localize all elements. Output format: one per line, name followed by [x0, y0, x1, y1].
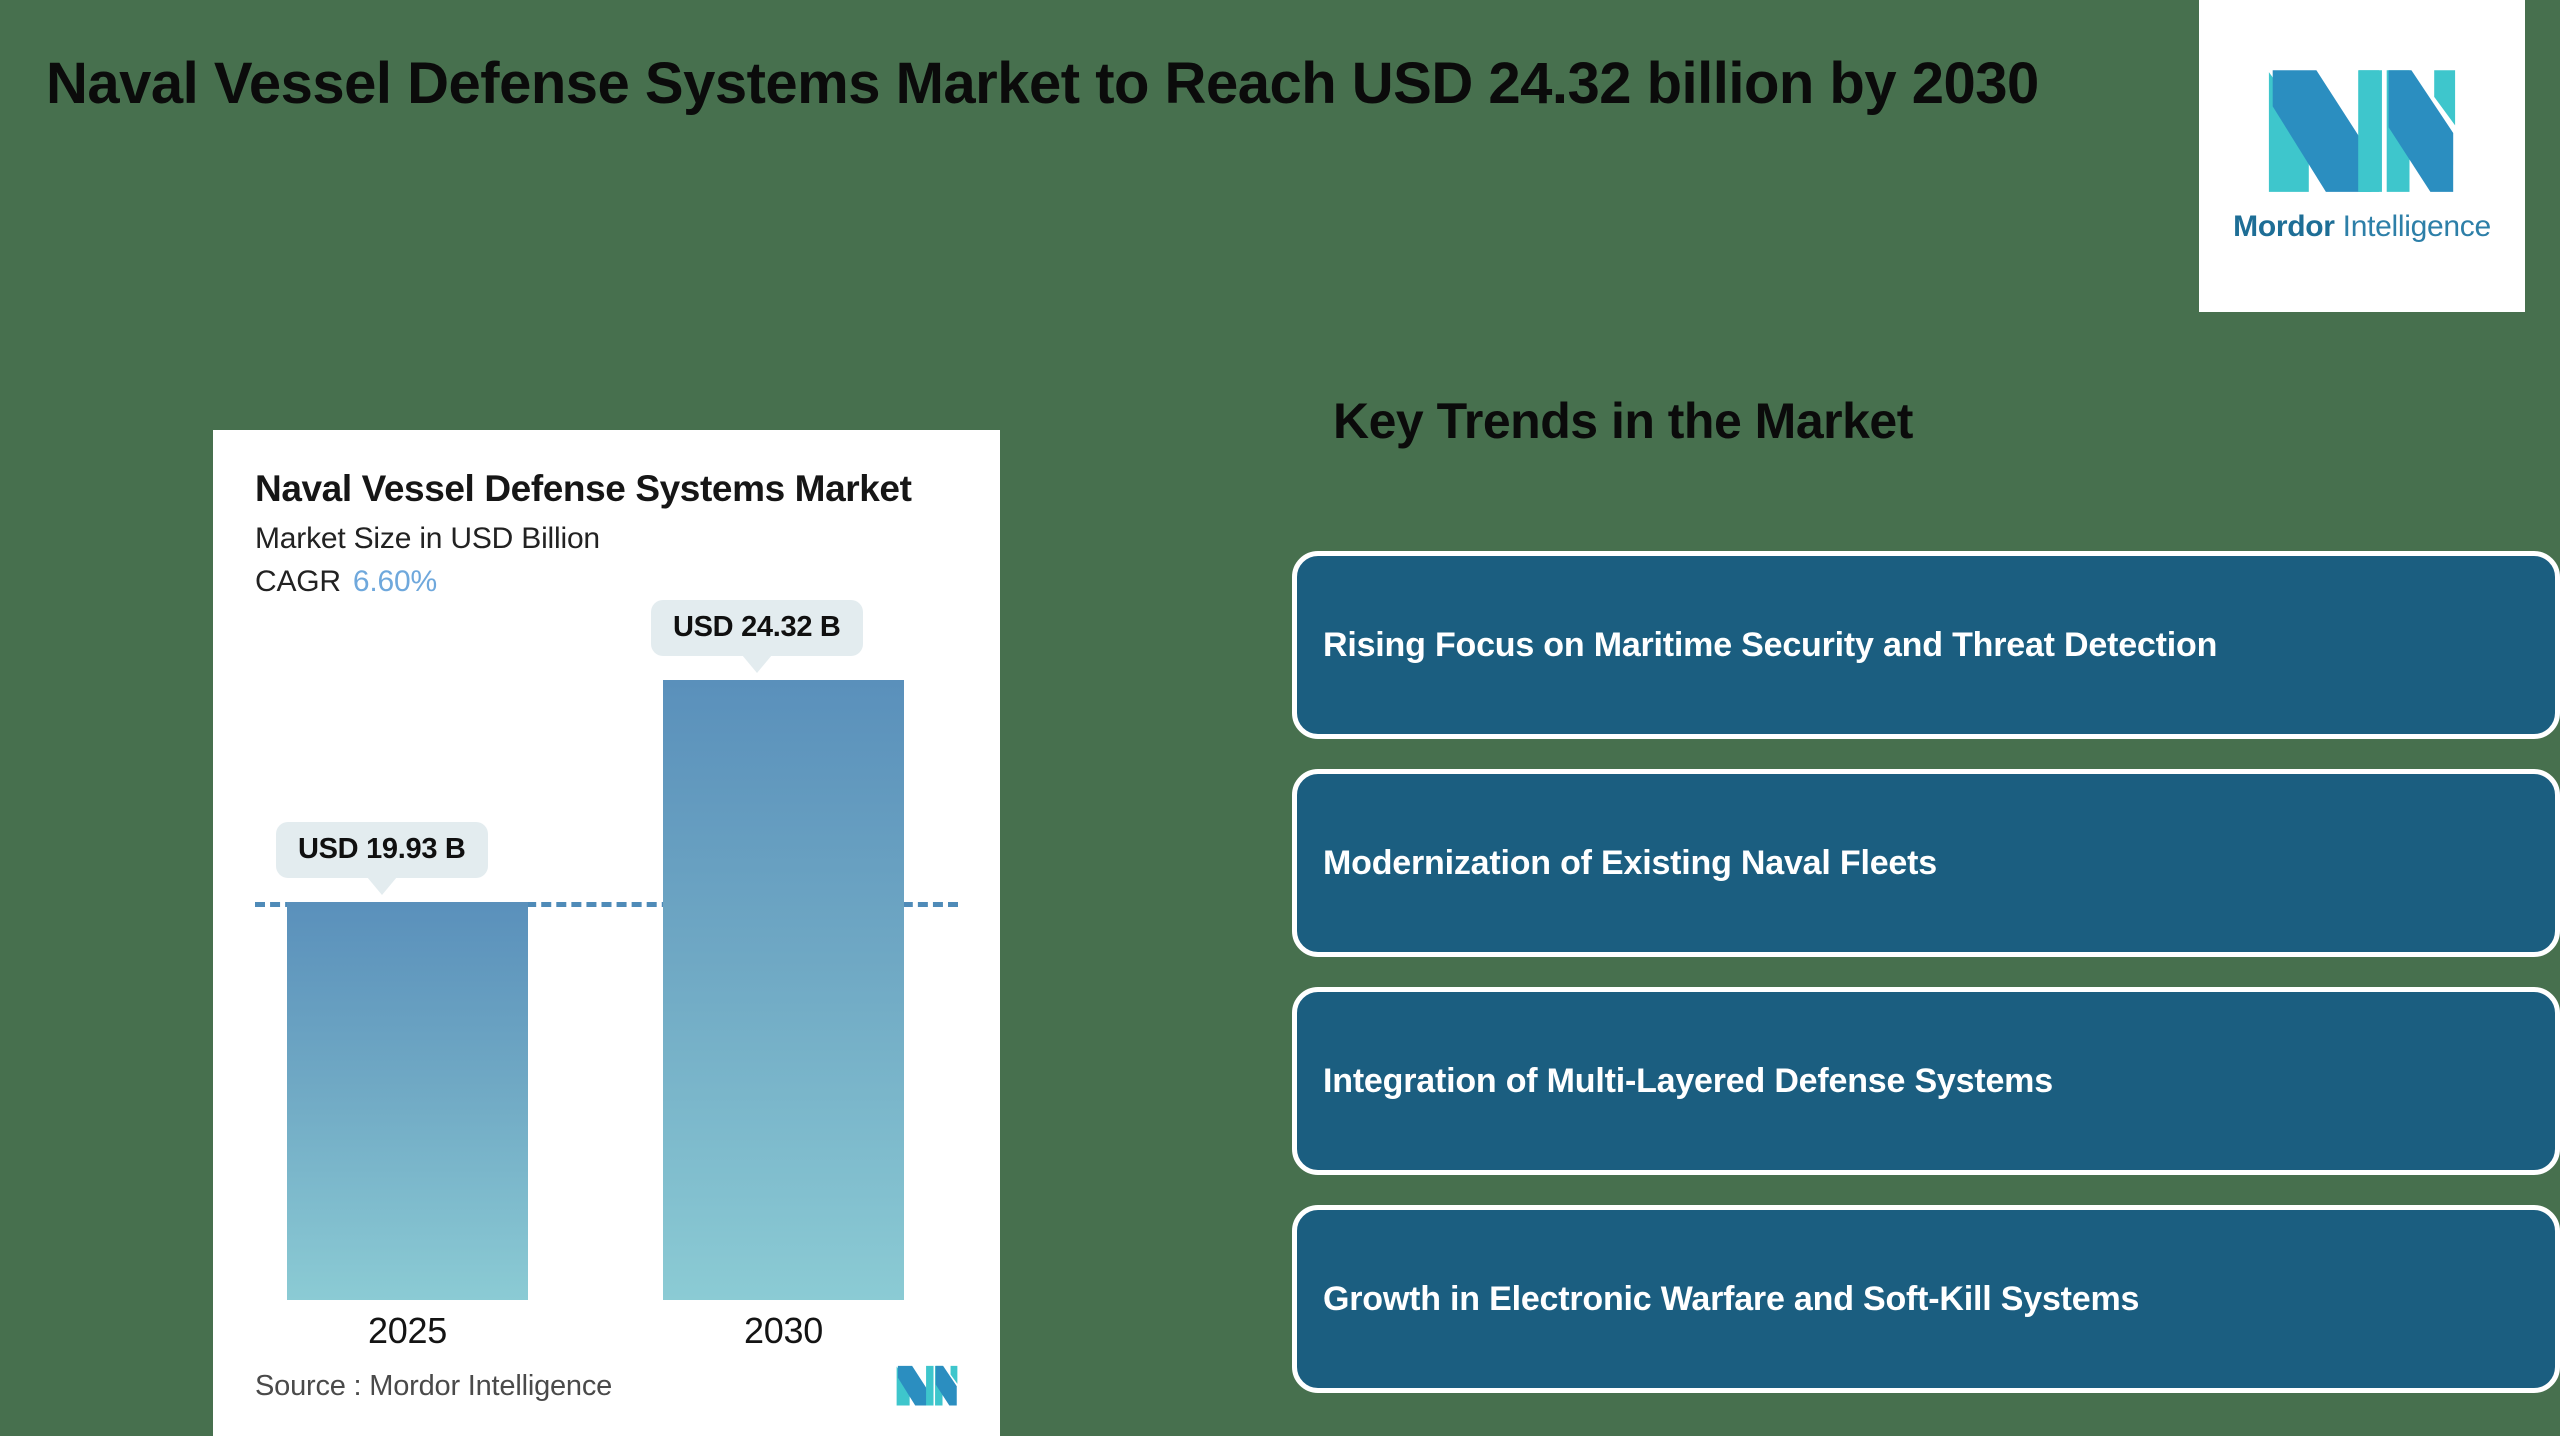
trend-card-2[interactable]: Modernization of Existing Naval Fleets — [1292, 769, 2560, 957]
chart-cagr: CAGR6.60% — [255, 565, 958, 599]
bar-value-badge-2025: USD 19.93 B — [276, 822, 488, 878]
page-title: Naval Vessel Defense Systems Market to R… — [46, 50, 2136, 118]
chart-footer: Source : Mordor Intelligence — [255, 1362, 958, 1410]
trend-label: Integration of Multi-Layered Defense Sys… — [1323, 1062, 2053, 1101]
trends-list: Rising Focus on Maritime Security and Th… — [1292, 551, 2560, 1423]
bar-chart-plot-area: USD 19.93 B USD 24.32 B — [255, 680, 958, 1300]
x-axis-label-2030: 2030 — [663, 1310, 904, 1352]
source-label: Source : Mordor Intelligence — [255, 1370, 612, 1403]
mordor-m-mark-small-icon — [896, 1362, 958, 1410]
chart-card: Naval Vessel Defense Systems Market Mark… — [213, 430, 1000, 1436]
x-axis-label-2025: 2025 — [287, 1310, 528, 1352]
chart-subtitle: Market Size in USD Billion — [255, 522, 958, 556]
trends-heading: Key Trends in the Market — [1333, 392, 1913, 450]
bar-2025 — [287, 902, 528, 1300]
chart-title: Naval Vessel Defense Systems Market — [255, 468, 958, 510]
x-axis-labels: 2025 2030 — [255, 1310, 958, 1360]
brand-name-bold: Mordor — [2233, 210, 2335, 243]
trend-label: Growth in Electronic Warfare and Soft-Ki… — [1323, 1280, 2139, 1319]
trend-label: Rising Focus on Maritime Security and Th… — [1323, 626, 2217, 665]
bar-2030 — [663, 680, 904, 1300]
cagr-label: CAGR — [255, 565, 341, 598]
cagr-value: 6.60% — [353, 565, 437, 598]
brand-name-light: Intelligence — [2335, 210, 2491, 243]
bar-value-badge-2030: USD 24.32 B — [651, 600, 863, 656]
mordor-m-mark-icon — [2267, 68, 2457, 196]
brand-wordmark: Mordor Intelligence — [2233, 210, 2491, 244]
trend-label: Modernization of Existing Naval Fleets — [1323, 844, 1937, 883]
brand-logo-card: Mordor Intelligence — [2199, 0, 2525, 312]
trend-card-1[interactable]: Rising Focus on Maritime Security and Th… — [1292, 551, 2560, 739]
trend-card-3[interactable]: Integration of Multi-Layered Defense Sys… — [1292, 987, 2560, 1175]
trend-card-4[interactable]: Growth in Electronic Warfare and Soft-Ki… — [1292, 1205, 2560, 1393]
